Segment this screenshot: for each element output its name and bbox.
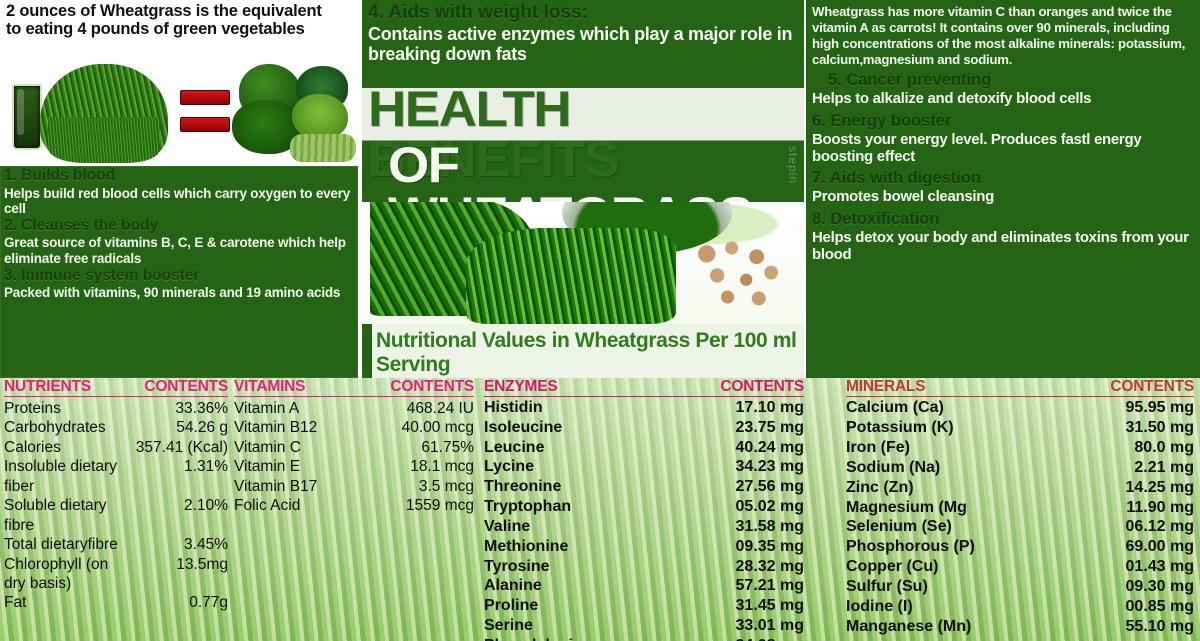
table-row: Calories357.41 (Kcal) xyxy=(4,438,228,457)
row-label: Zinc (Zn) xyxy=(846,478,1042,498)
benefit-5-title: 5. Cancer preventing xyxy=(828,71,1200,91)
nutrition-tables-area: NUTRIENTS CONTENTS Proteins33.36%Carbohy… xyxy=(0,378,1200,641)
enzymes-header-name: ENZYMES xyxy=(484,378,674,397)
row-value: 95.95 mg xyxy=(1042,398,1194,418)
enzymes-table: ENZYMES CONTENTS Histidin17.10 mgIsoleuc… xyxy=(484,378,804,641)
row-value: 357.41 (Kcal) xyxy=(132,438,228,457)
row-label: Lycine xyxy=(484,457,674,477)
equivalence-panel: 2 ounces of Wheatgrass is the equivalent… xyxy=(0,0,360,166)
enzymes-rows: Histidin17.10 mgIsoleucine23.75 mgLeucin… xyxy=(484,398,804,641)
benefit-8-body: Helps detox your body and eliminates tox… xyxy=(812,230,1200,264)
row-value: 09.35 mg xyxy=(674,537,804,557)
right-panel-intro: Wheatgrass has more vitamin C than orang… xyxy=(812,4,1196,67)
benefit-4-body: Contains active enzymes which play a maj… xyxy=(368,24,804,65)
row-label: Folic Acid xyxy=(234,496,346,515)
row-value: 33.36% xyxy=(132,399,228,418)
row-label: Leucine xyxy=(484,438,674,458)
row-value: 40.00 mcg xyxy=(346,418,474,437)
vitamins-table-header: VITAMINS CONTENTS xyxy=(234,378,474,397)
table-row: Sodium (Na)2.21 mg xyxy=(846,458,1194,478)
row-value: 80.0 mg xyxy=(1042,438,1194,458)
benefit-4-panel: 4. Aids with weight loss: Contains activ… xyxy=(362,0,804,88)
table-row: Alanine57.21 mg xyxy=(484,576,804,596)
row-label: Phosphorous (P) xyxy=(846,537,1042,557)
wheatgrass-photo xyxy=(370,202,804,324)
row-label: Potassium (K) xyxy=(846,418,1042,438)
benefit-3-title: 3. Immune system booster xyxy=(4,266,358,286)
row-value: 2.10% xyxy=(132,496,228,535)
juice-glass-icon xyxy=(12,84,42,150)
row-label: Fat xyxy=(4,593,132,612)
row-label: Calories xyxy=(4,438,132,457)
table-row: Calcium (Ca)95.95 mg xyxy=(846,398,1194,418)
row-value: 06.12 mg xyxy=(1042,517,1194,537)
table-row: Phosphorous (P)69.00 mg xyxy=(846,537,1194,557)
row-value: 00.85 mg xyxy=(1042,597,1194,617)
table-row: Methionine09.35 mg xyxy=(484,537,804,557)
row-value: 33.01 mg xyxy=(674,616,804,636)
row-label: Vitamin A xyxy=(234,399,346,418)
benefit-6-title: 6. Energy booster xyxy=(812,112,1200,132)
benefit-1-body: Helps build red blood cells which carry … xyxy=(4,186,358,216)
minerals-table: MINERALS CONTENTS Calcium (Ca)95.95 mgPo… xyxy=(846,378,1194,637)
row-value: 34.08 mg xyxy=(674,636,804,641)
minerals-table-header: MINERALS CONTENTS xyxy=(846,378,1194,397)
row-value: 55.10 mg xyxy=(1042,617,1194,637)
benefit-3-body: Packed with vitamins, 90 minerals and 19… xyxy=(4,285,358,300)
row-label: Selenium (Se) xyxy=(846,517,1042,537)
row-value: 0.77g xyxy=(132,593,228,612)
benefit-2-title: 2. Cleanses the body xyxy=(4,216,358,236)
watermark-text: stepin xyxy=(786,146,800,184)
row-label: Serine xyxy=(484,616,674,636)
table-row: Lycine34.23 mg xyxy=(484,457,804,477)
nutrients-rows: Proteins33.36%Carbohydrates54.26 gCalori… xyxy=(4,399,228,613)
equals-sign-icon xyxy=(180,90,230,105)
row-value: 09.30 mg xyxy=(1042,577,1194,597)
table-row: Isoleucine23.75 mg xyxy=(484,418,804,438)
benefit-8-title: 8. Detoxification xyxy=(812,210,1200,230)
row-value: 2.21 mg xyxy=(1042,458,1194,478)
equivalence-headline: 2 ounces of Wheatgrass is the equivalent… xyxy=(6,2,356,39)
row-value: 01.43 mg xyxy=(1042,557,1194,577)
headline-line-1: 2 ounces of Wheatgrass is the equivalent xyxy=(6,2,356,20)
row-label: Copper (Cu) xyxy=(846,557,1042,577)
row-value: 1.31% xyxy=(132,457,228,496)
row-label: Isoleucine xyxy=(484,418,674,438)
row-label: Carbohydrates xyxy=(4,418,132,437)
table-row: Copper (Cu)01.43 mg xyxy=(846,557,1194,577)
row-label: Tyrosine xyxy=(484,557,674,577)
table-row: Threonine27.56 mg xyxy=(484,477,804,497)
table-row: Serine33.01 mg xyxy=(484,616,804,636)
benefits-panel-right: Wheatgrass has more vitamin C than orang… xyxy=(806,0,1200,378)
row-label: Vitamin B12 xyxy=(234,418,346,437)
row-label: Phenylalanine xyxy=(484,636,674,641)
table-row: Proteins33.36% xyxy=(4,399,228,418)
vitamins-header-name: VITAMINS xyxy=(234,378,346,397)
row-label: Vitamin B17 xyxy=(234,477,346,496)
table-row: Phenylalanine34.08 mg xyxy=(484,636,804,641)
table-row: Carbohydrates54.26 g xyxy=(4,418,228,437)
table-row: Iodine (I)00.85 mg xyxy=(846,597,1194,617)
vitamins-rows: Vitamin A468.24 IUVitamin B1240.00 mcgVi… xyxy=(234,399,474,516)
nutrients-table: NUTRIENTS CONTENTS Proteins33.36%Carbohy… xyxy=(4,378,228,613)
row-value: 27.56 mg xyxy=(674,477,804,497)
row-label: Vitamin C xyxy=(234,438,346,457)
benefit-7-title: 7. Aids with digestion xyxy=(812,169,1200,189)
row-value: 34.23 mg xyxy=(674,457,804,477)
nutrients-table-header: NUTRIENTS CONTENTS xyxy=(4,378,228,397)
table-row: Leucine40.24 mg xyxy=(484,438,804,458)
table-row: Vitamin B173.5 mcg xyxy=(234,477,474,496)
table-row: Zinc (Zn)14.25 mg xyxy=(846,478,1194,498)
row-value: 69.00 mg xyxy=(1042,537,1194,557)
benefit-2-body: Great source of vitamins B, C, E & carot… xyxy=(4,235,358,265)
table-row: Manganese (Mn)55.10 mg xyxy=(846,617,1194,637)
row-label: Threonine xyxy=(484,477,674,497)
row-value: 40.24 mg xyxy=(674,438,804,458)
table-row: Folic Acid1559 mcg xyxy=(234,496,474,515)
row-value: 14.25 mg xyxy=(1042,478,1194,498)
equivalence-graphic xyxy=(4,42,356,160)
row-value: 3.45% xyxy=(132,535,228,554)
row-value: 18.1 mcg xyxy=(346,457,474,476)
row-label: Proline xyxy=(484,596,674,616)
minerals-header-value: CONTENTS xyxy=(1042,378,1194,397)
row-label: Insoluble dietary fiber xyxy=(4,457,132,496)
row-label: Iron (Fe) xyxy=(846,438,1042,458)
row-value: 11.90 mg xyxy=(1042,498,1194,518)
vitamins-table: VITAMINS CONTENTS Vitamin A468.24 IUVita… xyxy=(234,378,474,516)
headline-line-2: to eating 4 pounds of green vegetables xyxy=(6,20,356,38)
benefit-4-title: 4. Aids with weight loss: xyxy=(368,2,804,24)
table-row: Vitamin C61.75% xyxy=(234,438,474,457)
row-value: 28.32 mg xyxy=(674,557,804,577)
wheatgrass-bundle-icon xyxy=(40,64,168,160)
benefit-7-body: Promotes bowel cleansing xyxy=(812,189,1200,206)
table-row: Vitamin A468.24 IU xyxy=(234,399,474,418)
table-row: Chlorophyll (on dry basis)13.5mg xyxy=(4,555,228,594)
row-label: Magnesium (Mg xyxy=(846,498,1042,518)
minerals-rows: Calcium (Ca)95.95 mgPotassium (K)31.50 m… xyxy=(846,398,1194,637)
table-row: Tyrosine28.32 mg xyxy=(484,557,804,577)
nutritional-values-title: Nutritional Values in Wheatgrass Per 100… xyxy=(376,329,800,382)
row-value: 31.45 mg xyxy=(674,596,804,616)
row-value: 31.50 mg xyxy=(1042,418,1194,438)
table-row: Soluble dietary fibre2.10% xyxy=(4,496,228,535)
table-row: Selenium (Se)06.12 mg xyxy=(846,517,1194,537)
table-row: Vitamin B1240.00 mcg xyxy=(234,418,474,437)
infographic-root: 2 ounces of Wheatgrass is the equivalent… xyxy=(0,0,1200,641)
table-row: Magnesium (Mg11.90 mg xyxy=(846,498,1194,518)
table-row: Sulfur (Su)09.30 mg xyxy=(846,577,1194,597)
enzymes-header-value: CONTENTS xyxy=(674,378,804,397)
benefit-6-body: Boosts your energy level. Produces fastl… xyxy=(812,132,1200,166)
table-row: Insoluble dietary fiber1.31% xyxy=(4,457,228,496)
table-row: Fat0.77g xyxy=(4,593,228,612)
minerals-header-name: MINERALS xyxy=(846,378,1042,397)
row-value: 61.75% xyxy=(346,438,474,457)
row-label: Chlorophyll (on dry basis) xyxy=(4,555,132,594)
enzymes-table-header: ENZYMES CONTENTS xyxy=(484,378,804,397)
row-value: 13.5mg xyxy=(132,555,228,594)
table-row: Histidin17.10 mg xyxy=(484,398,804,418)
benefits-panel-left: 1. Builds blood Helps build red blood ce… xyxy=(0,166,358,378)
grass-blades-middle-icon xyxy=(466,228,676,324)
table-row: Potassium (K)31.50 mg xyxy=(846,418,1194,438)
table-row: Valine31.58 mg xyxy=(484,517,804,537)
equals-sign-icon-lower xyxy=(180,117,230,132)
row-label: Manganese (Mn) xyxy=(846,617,1042,637)
row-value: 468.24 IU xyxy=(346,399,474,418)
row-value: 31.58 mg xyxy=(674,517,804,537)
table-row: Vitamin E18.1 mcg xyxy=(234,457,474,476)
row-label: Proteins xyxy=(4,399,132,418)
row-label: Calcium (Ca) xyxy=(846,398,1042,418)
title-block: HEALTH BENEFITS OF WHEATGRASS stepin xyxy=(362,88,804,202)
table-row: Iron (Fe)80.0 mg xyxy=(846,438,1194,458)
row-value: 05.02 mg xyxy=(674,497,804,517)
row-value: 57.21 mg xyxy=(674,576,804,596)
row-label: Histidin xyxy=(484,398,674,418)
row-label: Vitamin E xyxy=(234,457,346,476)
row-label: Sodium (Na) xyxy=(846,458,1042,478)
table-row: Total dietaryfibre3.45% xyxy=(4,535,228,554)
row-label: Soluble dietary fibre xyxy=(4,496,132,535)
asparagus-icon xyxy=(290,134,356,162)
table-row: Proline31.45 mg xyxy=(484,596,804,616)
banner-accent-bar xyxy=(362,324,372,378)
nutritional-values-banner: Nutritional Values in Wheatgrass Per 100… xyxy=(362,324,804,378)
row-label: Valine xyxy=(484,517,674,537)
vitamins-header-value: CONTENTS xyxy=(346,378,474,397)
row-value: 3.5 mcg xyxy=(346,477,474,496)
benefit-5-body: Helps to alkalize and detoxify blood cel… xyxy=(812,91,1200,108)
row-label: Tryptophan xyxy=(484,497,674,517)
row-label: Alanine xyxy=(484,576,674,596)
table-row: Tryptophan05.02 mg xyxy=(484,497,804,517)
main-title-line-2: OF WHEATGRASS xyxy=(388,140,804,202)
row-label: Methionine xyxy=(484,537,674,557)
nutrients-header-value: CONTENTS xyxy=(132,378,228,397)
row-label: Sulfur (Su) xyxy=(846,577,1042,597)
row-value: 1559 mcg xyxy=(346,496,474,515)
wheat-seeds-icon xyxy=(688,238,792,310)
row-label: Total dietaryfibre xyxy=(4,535,132,554)
row-value: 17.10 mg xyxy=(674,398,804,418)
row-value: 54.26 g xyxy=(132,418,228,437)
row-value: 23.75 mg xyxy=(674,418,804,438)
nutrients-header-name: NUTRIENTS xyxy=(4,378,132,397)
row-label: Iodine (I) xyxy=(846,597,1042,617)
benefit-1-title: 1. Builds blood xyxy=(4,166,358,186)
